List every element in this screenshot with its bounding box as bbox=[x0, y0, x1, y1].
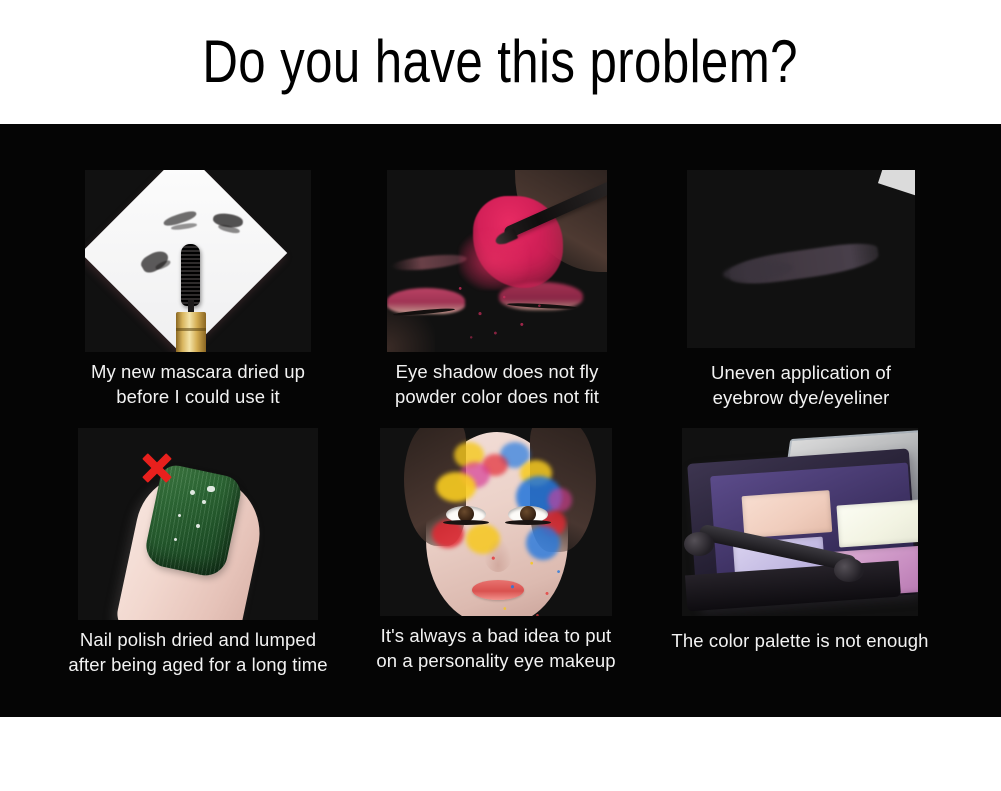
polish-bubble bbox=[202, 500, 206, 504]
eyeshadow-palette-photo bbox=[682, 428, 918, 616]
problem-card-palette-too-small[interactable]: The color palette is not enough bbox=[650, 428, 950, 653]
problem-panel: My new mascara dried up before I could u… bbox=[0, 124, 1001, 717]
mascara-handle bbox=[176, 312, 206, 352]
palette-pan-cream bbox=[836, 500, 918, 548]
polish-bubble bbox=[196, 524, 200, 528]
page-title: Do you have this problem? bbox=[203, 32, 799, 92]
right-eyeliner bbox=[505, 520, 551, 525]
problem-card-mascara-dried[interactable]: My new mascara dried up before I could u… bbox=[60, 170, 336, 409]
problem-caption: The color palette is not enough bbox=[650, 628, 950, 653]
polish-bubble bbox=[207, 486, 215, 492]
mascara-wand-on-paper-photo bbox=[85, 170, 311, 352]
green-nail-polish-photo bbox=[78, 428, 318, 620]
footer-whitespace bbox=[0, 717, 1001, 791]
mascara-brush bbox=[181, 244, 200, 306]
problem-caption: Nail polish dried and lumped after being… bbox=[48, 627, 348, 677]
problem-caption: Eye shadow does not fly powder color doe… bbox=[362, 359, 632, 409]
pink-powder-splatter bbox=[548, 488, 572, 512]
colorful-powder-face-photo bbox=[380, 428, 612, 616]
sponge-tip bbox=[834, 558, 864, 582]
powder-fallout-specks bbox=[447, 274, 557, 346]
eyebrow-dye-swatch-photo bbox=[687, 170, 915, 348]
pink-eyeshadow-fallout-photo bbox=[387, 170, 607, 352]
problem-grid: My new mascara dried up before I could u… bbox=[0, 124, 1001, 717]
yellow-powder-splatter bbox=[436, 472, 476, 502]
left-eyeliner bbox=[443, 520, 489, 525]
polish-bubble bbox=[174, 538, 177, 541]
problem-card-nail-polish-lumped[interactable]: Nail polish dried and lumped after being… bbox=[48, 428, 348, 677]
x-mark-icon bbox=[140, 450, 174, 484]
problem-card-eyeshadow-fallout[interactable]: Eye shadow does not fly powder color doe… bbox=[362, 170, 632, 409]
infographic-page: Do you have this problem? bbox=[0, 0, 1001, 791]
polish-bubble bbox=[190, 490, 195, 495]
eyebrow bbox=[391, 252, 468, 273]
mascara-handle-band bbox=[176, 328, 206, 331]
problem-caption: My new mascara dried up before I could u… bbox=[60, 359, 336, 409]
palette-pan-peach bbox=[742, 490, 833, 538]
problem-card-uneven-eyebrow[interactable]: Uneven application of eyebrow dye/eyelin… bbox=[660, 170, 942, 410]
problem-card-personality-eye-makeup[interactable]: It's always a bad idea to put on a perso… bbox=[362, 428, 630, 673]
powder-specks bbox=[476, 538, 572, 616]
background-corner-highlight bbox=[878, 170, 915, 196]
header-banner: Do you have this problem? bbox=[0, 0, 1001, 124]
problem-caption: Uneven application of eyebrow dye/eyelin… bbox=[660, 360, 942, 410]
sponge-tip bbox=[684, 532, 714, 556]
polish-bubble bbox=[178, 514, 181, 517]
problem-caption: It's always a bad idea to put on a perso… bbox=[362, 623, 630, 673]
